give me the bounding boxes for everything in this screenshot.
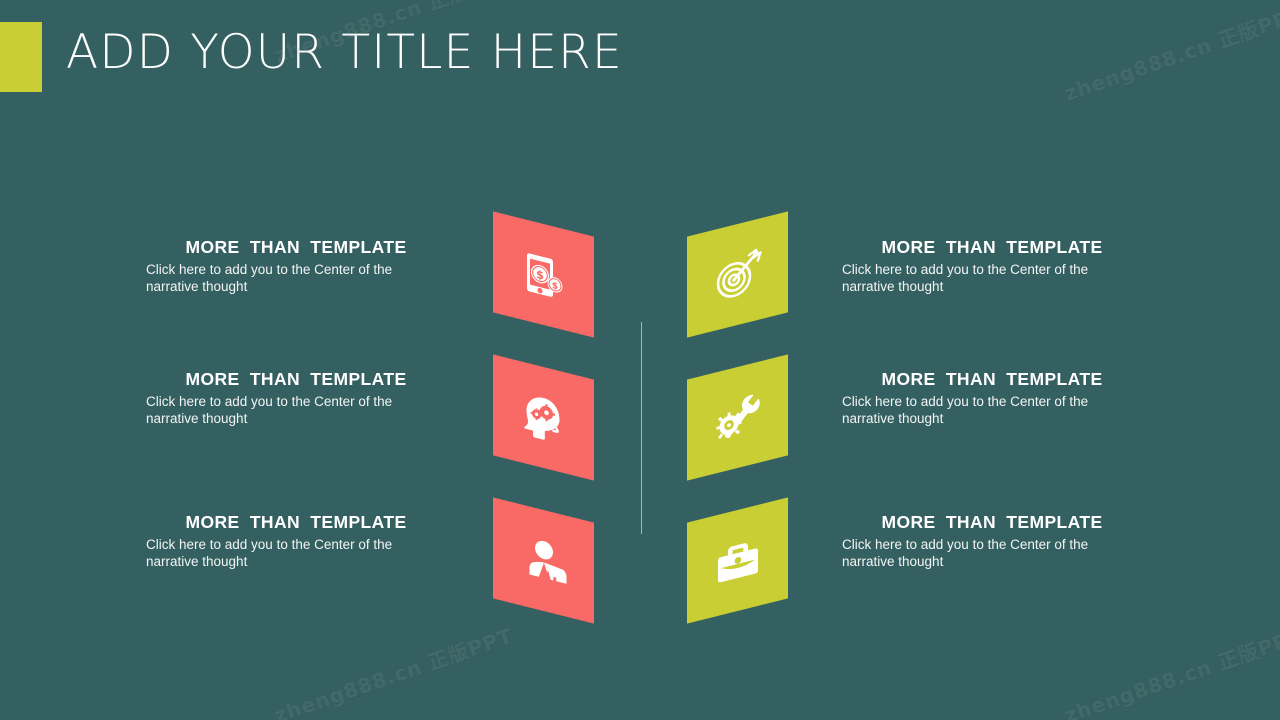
text-block-right-2: MORE THAN TEMPLATE Click here to add you…	[842, 369, 1142, 428]
item-heading: MORE THAN TEMPLATE	[146, 369, 446, 390]
watermark: zheng888.cn 正版PPT	[270, 620, 516, 720]
mobile-payment-icon: $ $	[493, 211, 594, 337]
tile-left-3[interactable]	[493, 510, 594, 611]
item-body: Click here to add you to the Center of t…	[842, 261, 1142, 296]
item-body: Click here to add you to the Center of t…	[842, 536, 1142, 571]
head-gears-icon	[493, 354, 594, 480]
center-divider	[641, 322, 642, 534]
item-body: Click here to add you to the Center of t…	[842, 393, 1142, 428]
tile-right-1[interactable]	[687, 224, 788, 325]
item-heading: MORE THAN TEMPLATE	[842, 369, 1142, 390]
svg-text:$: $	[535, 266, 543, 282]
text-block-left-3: MORE THAN TEMPLATE Click here to add you…	[146, 512, 446, 571]
text-block-left-2: MORE THAN TEMPLATE Click here to add you…	[146, 369, 446, 428]
person-icon	[493, 497, 594, 623]
text-block-left-1: MORE THAN TEMPLATE Click here to add you…	[146, 237, 446, 296]
title-accent-block	[0, 22, 42, 92]
tile-right-3[interactable]	[687, 510, 788, 611]
item-body: Click here to add you to the Center of t…	[146, 261, 446, 296]
text-block-right-3: MORE THAN TEMPLATE Click here to add you…	[842, 512, 1142, 571]
item-body: Click here to add you to the Center of t…	[146, 393, 446, 428]
tile-left-1[interactable]: $ $	[493, 224, 594, 325]
item-heading: MORE THAN TEMPLATE	[146, 237, 446, 258]
watermark: zheng888.cn 正版PPT	[1060, 620, 1280, 720]
target-arrow-icon	[687, 211, 788, 337]
tile-left-2[interactable]	[493, 367, 594, 468]
item-heading: MORE THAN TEMPLATE	[146, 512, 446, 533]
text-block-right-1: MORE THAN TEMPLATE Click here to add you…	[842, 237, 1142, 296]
item-heading: MORE THAN TEMPLATE	[842, 512, 1142, 533]
svg-text:$: $	[551, 280, 557, 291]
watermark: zheng888.cn 正版PPT	[1060, 0, 1280, 107]
tile-right-2[interactable]	[687, 367, 788, 468]
wrench-gear-icon	[687, 354, 788, 480]
item-body: Click here to add you to the Center of t…	[146, 536, 446, 571]
item-heading: MORE THAN TEMPLATE	[842, 237, 1142, 258]
briefcase-icon	[687, 497, 788, 623]
